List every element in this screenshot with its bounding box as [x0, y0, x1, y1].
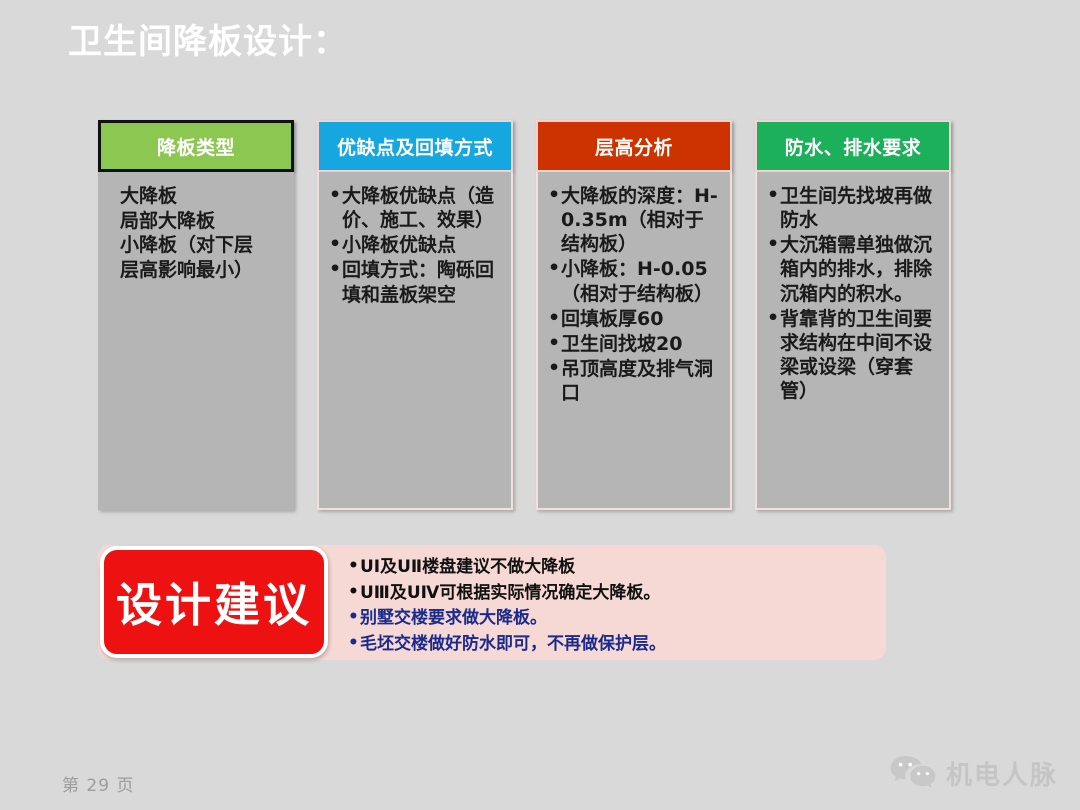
comparison-columns: 降板类型 大降板 局部大降板 小降板（对下层 层高影响最小） 优缺点及回填方式 …	[98, 120, 958, 510]
column-body-3: 大降板的深度：H-0.35m（相对于结构板） 小降板：H-0.05（相对于结构板…	[536, 172, 732, 510]
list-item: 回填方式：陶砾回填和盖板架空	[329, 258, 502, 306]
column-body-1: 大降板 局部大降板 小降板（对下层 层高影响最小）	[98, 172, 294, 510]
column-jiangbanleixing: 降板类型 大降板 局部大降板 小降板（对下层 层高影响最小）	[98, 120, 294, 510]
design-recommendation-block: 设计建议 UⅠ及UⅡ楼盘建议不做大降板 UⅢ及UⅣ可根据实际情况确定大降板。 别…	[98, 545, 886, 660]
watermark-label: 机电人脉	[946, 755, 1058, 792]
list-item: 卫生间先找坡再做防水	[767, 184, 940, 232]
page-number: 第 29 页	[62, 771, 134, 796]
column-youqueidian-huitian: 优缺点及回填方式 大降板优缺点（造价、施工、效果） 小降板优缺点 回填方式：陶砾…	[317, 120, 513, 510]
list-item: 大降板的深度：H-0.35m（相对于结构板）	[548, 184, 721, 256]
column-body-4: 卫生间先找坡再做防水 大沉箱需单独做沉箱内的排水，排除沉箱内的积水。 背靠背的卫…	[755, 172, 951, 510]
column-header-4: 防水、排水要求	[755, 120, 951, 172]
column-header-2: 优缺点及回填方式	[317, 120, 513, 172]
column-header-3: 层高分析	[536, 120, 732, 172]
column-1-line: 大降板	[108, 184, 285, 209]
column-3-list: 大降板的深度：H-0.35m（相对于结构板） 小降板：H-0.05（相对于结构板…	[548, 184, 721, 405]
column-1-line: 小降板（对下层	[108, 233, 285, 258]
list-item: 大降板优缺点（造价、施工、效果）	[329, 184, 502, 232]
column-2-list: 大降板优缺点（造价、施工、效果） 小降板优缺点 回填方式：陶砾回填和盖板架空	[329, 184, 502, 307]
column-body-2: 大降板优缺点（造价、施工、效果） 小降板优缺点 回填方式：陶砾回填和盖板架空	[317, 172, 513, 510]
list-item: 背靠背的卫生间要求结构在中间不设梁或设梁（穿套管）	[767, 307, 940, 404]
recommendation-item: 别墅交楼要求做大降板。	[348, 606, 876, 632]
column-1-line: 层高影响最小）	[108, 258, 285, 283]
list-item: 回填板厚60	[548, 307, 721, 331]
wechat-icon	[890, 756, 936, 792]
column-1-line: 局部大降板	[108, 209, 285, 234]
column-cenggao-fenxi: 层高分析 大降板的深度：H-0.35m（相对于结构板） 小降板：H-0.05（相…	[536, 120, 732, 510]
list-item: 卫生间找坡20	[548, 332, 721, 356]
design-recommendation-badge: 设计建议	[100, 546, 328, 658]
list-item: 小降板优缺点	[329, 233, 502, 257]
column-header-1: 降板类型	[98, 120, 294, 172]
recommendation-list: UⅠ及UⅡ楼盘建议不做大降板 UⅢ及UⅣ可根据实际情况确定大降板。 别墅交楼要求…	[348, 555, 876, 657]
slide-canvas: 卫生间降板设计： 降板类型 大降板 局部大降板 小降板（对下层 层高影响最小） …	[0, 0, 1080, 810]
recommendation-item: 毛坯交楼做好防水即可，不再做保护层。	[348, 632, 876, 658]
watermark: 机电人脉	[890, 755, 1058, 792]
column-fangshui-paishui: 防水、排水要求 卫生间先找坡再做防水 大沉箱需单独做沉箱内的排水，排除沉箱内的积…	[755, 120, 951, 510]
recommendation-item: UⅠ及UⅡ楼盘建议不做大降板	[348, 555, 876, 581]
page-title: 卫生间降板设计：	[68, 22, 348, 63]
list-item: 吊顶高度及排气洞口	[548, 357, 721, 405]
list-item: 小降板：H-0.05（相对于结构板）	[548, 257, 721, 305]
list-item: 大沉箱需单独做沉箱内的排水，排除沉箱内的积水。	[767, 233, 940, 305]
recommendation-item: UⅢ及UⅣ可根据实际情况确定大降板。	[348, 581, 876, 607]
column-4-list: 卫生间先找坡再做防水 大沉箱需单独做沉箱内的排水，排除沉箱内的积水。 背靠背的卫…	[767, 184, 940, 403]
